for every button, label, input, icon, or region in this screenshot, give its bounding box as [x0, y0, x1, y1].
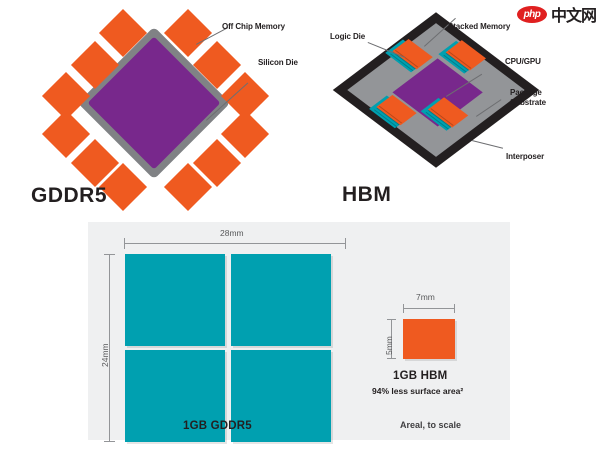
- callout-stacked-memory: Stacked Memory: [448, 22, 510, 32]
- gddr5-width-dimension-line: [124, 243, 346, 244]
- gddr5-scale-caption: 1GB GDDR5: [183, 420, 252, 432]
- gddr5-memory-tile: [125, 254, 225, 346]
- gddr5-height-label: 24mm: [100, 343, 110, 367]
- hbm-width-dimension-line: [403, 308, 455, 309]
- hbm-height-tick-top: [387, 319, 396, 320]
- gddr5-diagram: Off Chip Memory Silicon Die GDDR5: [0, 0, 300, 215]
- callout-interposer: Interposer: [506, 152, 544, 162]
- callout-cpu-gpu: CPU/GPU: [505, 57, 541, 67]
- hbm-title: HBM: [342, 183, 391, 207]
- hbm-width-tick-left: [403, 304, 404, 313]
- callout-package-substrate: Package Substrate: [510, 88, 546, 108]
- hbm-scale-subcaption: 94% less surface area²: [372, 386, 463, 396]
- hbm-diagram: Logic Die Stacked Memory CPU/GPU Package…: [300, 0, 600, 215]
- scale-comparison-panel: 28mm 24mm 1GB GDDR5 7mm 5mm 1GB HBM 94% …: [88, 222, 510, 440]
- callout-off-chip-memory: Off Chip Memory: [222, 22, 285, 32]
- hbm-height-label: 5mm: [384, 336, 394, 355]
- gddr5-memory-tile: [231, 254, 331, 346]
- hbm-width-label: 7mm: [416, 292, 435, 302]
- callout-silicon-die: Silicon Die: [258, 58, 298, 68]
- hbm-height-tick-bottom: [387, 358, 396, 359]
- diagram-canvas: php 中文网 Off Chip Memory Silicon Die GDDR…: [0, 0, 600, 463]
- hbm-interposer: [347, 23, 524, 157]
- callout-logic-die: Logic Die: [330, 32, 365, 42]
- gddr5-height-tick-top: [104, 254, 115, 255]
- hbm-width-tick-right: [454, 304, 455, 313]
- gddr5-height-tick-bottom: [104, 441, 115, 442]
- hbm-memory-tile: [403, 319, 455, 359]
- gddr5-width-tick-left: [124, 238, 125, 249]
- gddr5-width-label: 28mm: [220, 228, 244, 238]
- scale-note: Areal, to scale: [400, 420, 461, 430]
- gddr5-title: GDDR5: [31, 184, 107, 208]
- hbm-scale-caption: 1GB HBM: [393, 370, 447, 382]
- gddr5-width-tick-right: [345, 238, 346, 249]
